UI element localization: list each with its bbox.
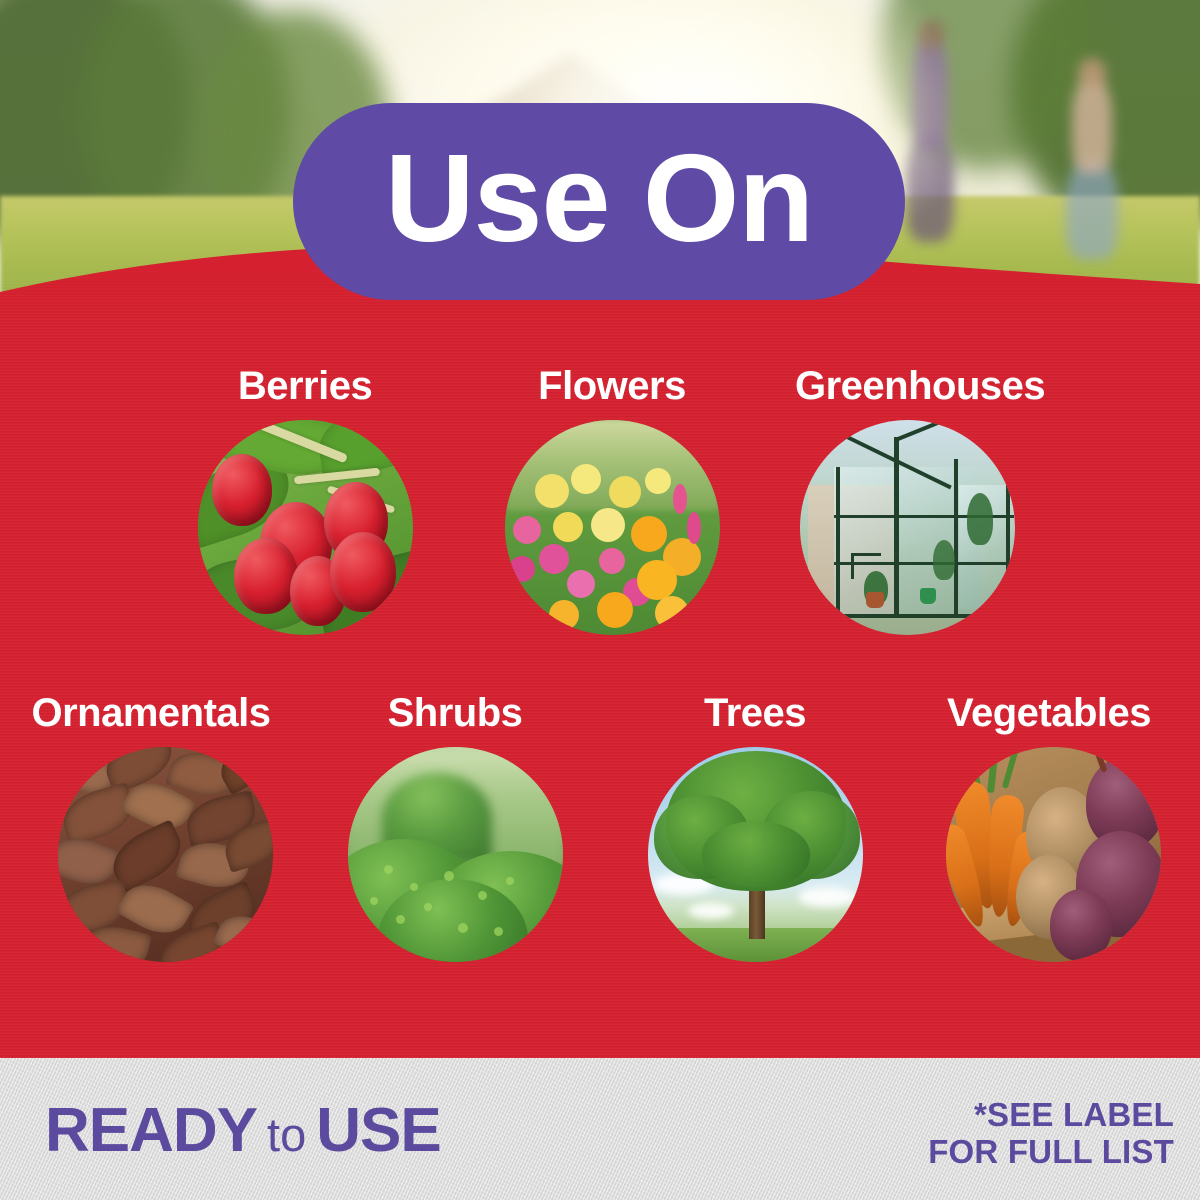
greenhouse-image [800, 420, 1015, 635]
ready-word: READY [45, 1100, 257, 1162]
category-label-flowers: Flowers [504, 366, 720, 406]
disclaimer-line-2: FOR FULL LIST [928, 1134, 1174, 1171]
disclaimer-line-1: *SEE LABEL [928, 1097, 1174, 1134]
vegetables-image [946, 747, 1161, 962]
category-label-ornamentals: Ornamentals [29, 693, 273, 733]
flowers-image [505, 420, 720, 635]
category-label-berries: Berries [197, 366, 413, 406]
category-label-vegetables: Vegetables [937, 693, 1161, 733]
category-greenhouses: Greenhouses [799, 366, 1015, 635]
category-berries: Berries [197, 366, 413, 635]
category-label-shrubs: Shrubs [347, 693, 563, 733]
see-label-disclaimer: *SEE LABEL FOR FULL LIST [928, 1097, 1174, 1171]
shrubs-image [348, 747, 563, 962]
use-on-badge: Use On [293, 103, 905, 300]
category-ornamentals: Ornamentals [57, 693, 273, 962]
berries-image [198, 420, 413, 635]
to-word: to [267, 1111, 306, 1158]
category-shrubs: Shrubs [347, 693, 563, 962]
ornamentals-image [58, 747, 273, 962]
category-flowers: Flowers [504, 366, 720, 635]
ready-to-use-wordmark: READY to USE [45, 1100, 441, 1162]
trees-image [648, 747, 863, 962]
category-trees: Trees [647, 693, 863, 962]
category-label-greenhouses: Greenhouses [795, 366, 1015, 406]
use-on-label: Use On [385, 137, 813, 261]
use-word: USE [316, 1100, 440, 1162]
product-infographic: Use On Berries Flowers [0, 0, 1200, 1200]
category-vegetables: Vegetables [945, 693, 1161, 962]
category-label-trees: Trees [647, 693, 863, 733]
